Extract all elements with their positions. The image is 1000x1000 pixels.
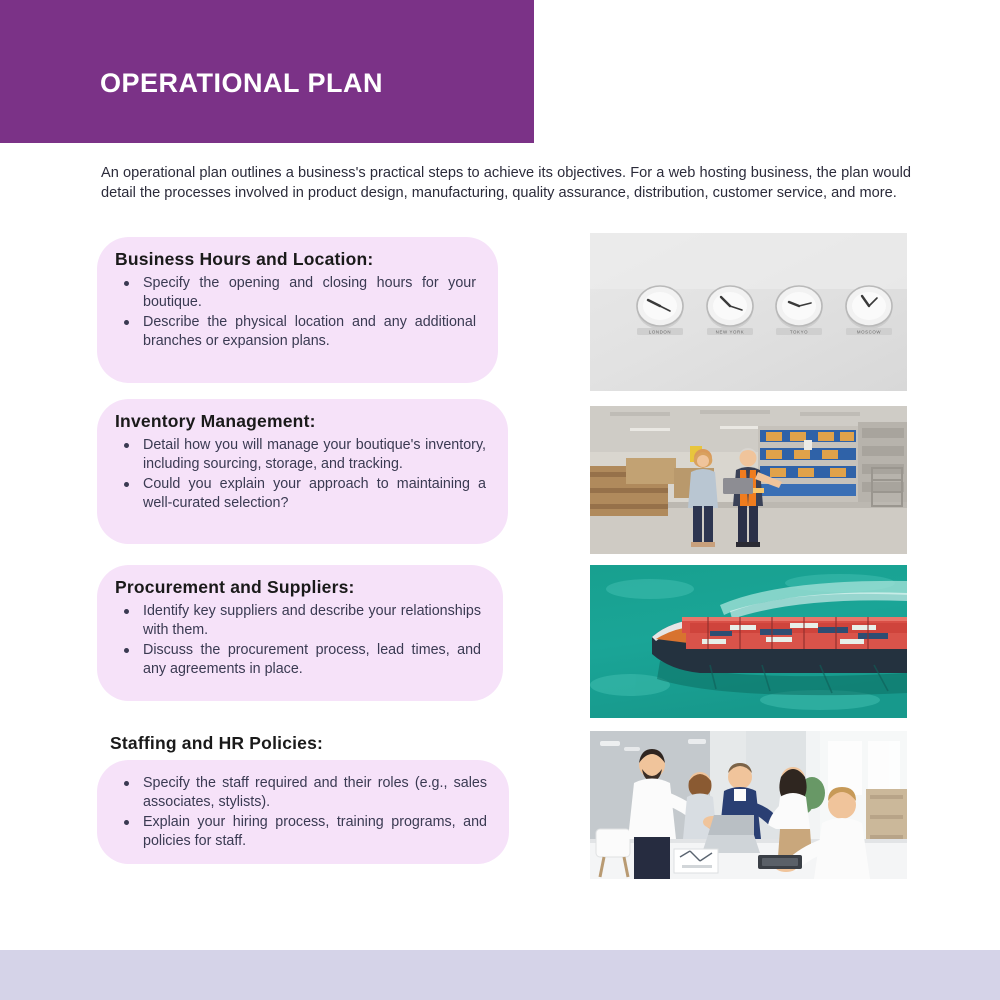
bullet-dot-icon <box>124 820 129 825</box>
section-card-inventory: Inventory Management: Detail how you wil… <box>97 399 508 544</box>
bullet-text: Describe the physical location and any a… <box>143 314 476 349</box>
list-item: Detail how you will manage your boutique… <box>115 436 486 474</box>
footer-band <box>0 950 1000 1000</box>
bullet-text: Identify key suppliers and describe your… <box>143 603 481 638</box>
section-title-staffing: Staffing and HR Policies: <box>110 733 323 754</box>
list-item: Describe the physical location and any a… <box>115 313 476 351</box>
warehouse-illustration <box>590 406 907 554</box>
bullet-text: Could you explain your approach to maint… <box>143 476 486 511</box>
header-banner: OPERATIONAL PLAN <box>0 0 534 143</box>
section-card-procurement: Procurement and Suppliers: Identify key … <box>97 565 503 701</box>
section-title-inventory: Inventory Management: <box>115 411 486 432</box>
list-item: Specify the staff required and their rol… <box>115 774 487 812</box>
bullet-dot-icon <box>124 443 129 448</box>
section-title-business-hours: Business Hours and Location: <box>115 249 476 270</box>
section-title-procurement: Procurement and Suppliers: <box>115 577 481 598</box>
bullet-text: Detail how you will manage your boutique… <box>143 437 486 472</box>
warehouse-photo <box>590 406 907 554</box>
list-item: Identify key suppliers and describe your… <box>115 602 481 640</box>
svg-text:NEW YORK: NEW YORK <box>716 330 745 335</box>
container-ship-illustration <box>590 565 907 718</box>
bullet-text: Specify the staff required and their rol… <box>143 775 487 810</box>
document-page: OPERATIONAL PLAN An operational plan out… <box>0 0 1000 1000</box>
list-item: Specify the opening and closing hours fo… <box>115 274 476 312</box>
section-card-staffing: Specify the staff required and their rol… <box>97 760 509 864</box>
bullet-list-procurement: Identify key suppliers and describe your… <box>115 602 481 679</box>
container-ship-photo <box>590 565 907 718</box>
bullet-list-staffing: Specify the staff required and their rol… <box>115 774 487 851</box>
bullet-text: Explain your hiring process, training pr… <box>143 814 487 849</box>
bullet-dot-icon <box>124 781 129 786</box>
bullet-dot-icon <box>124 281 129 286</box>
list-item: Explain your hiring process, training pr… <box>115 813 487 851</box>
office-handshake-photo <box>590 731 907 879</box>
svg-text:MOSCOW: MOSCOW <box>857 330 882 335</box>
bullet-dot-icon <box>124 320 129 325</box>
bullet-dot-icon <box>124 482 129 487</box>
bullet-dot-icon <box>124 648 129 653</box>
world-clocks-illustration: LONDON NEW YORK <box>590 233 907 391</box>
office-handshake-illustration <box>590 731 907 879</box>
section-card-business-hours: Business Hours and Location: Specify the… <box>97 237 498 383</box>
page-title: OPERATIONAL PLAN <box>100 68 383 99</box>
bullet-list-business-hours: Specify the opening and closing hours fo… <box>115 274 476 351</box>
bullet-list-inventory: Detail how you will manage your boutique… <box>115 436 486 513</box>
bullet-dot-icon <box>124 609 129 614</box>
bullet-text: Specify the opening and closing hours fo… <box>143 275 476 310</box>
world-clocks-photo: LONDON NEW YORK <box>590 233 907 391</box>
intro-paragraph: An operational plan outlines a business'… <box>101 164 911 203</box>
svg-text:LONDON: LONDON <box>649 330 671 335</box>
list-item: Could you explain your approach to maint… <box>115 475 486 513</box>
svg-text:TOKYO: TOKYO <box>790 330 808 335</box>
list-item: Discuss the procurement process, lead ti… <box>115 641 481 679</box>
bullet-text: Discuss the procurement process, lead ti… <box>143 642 481 677</box>
